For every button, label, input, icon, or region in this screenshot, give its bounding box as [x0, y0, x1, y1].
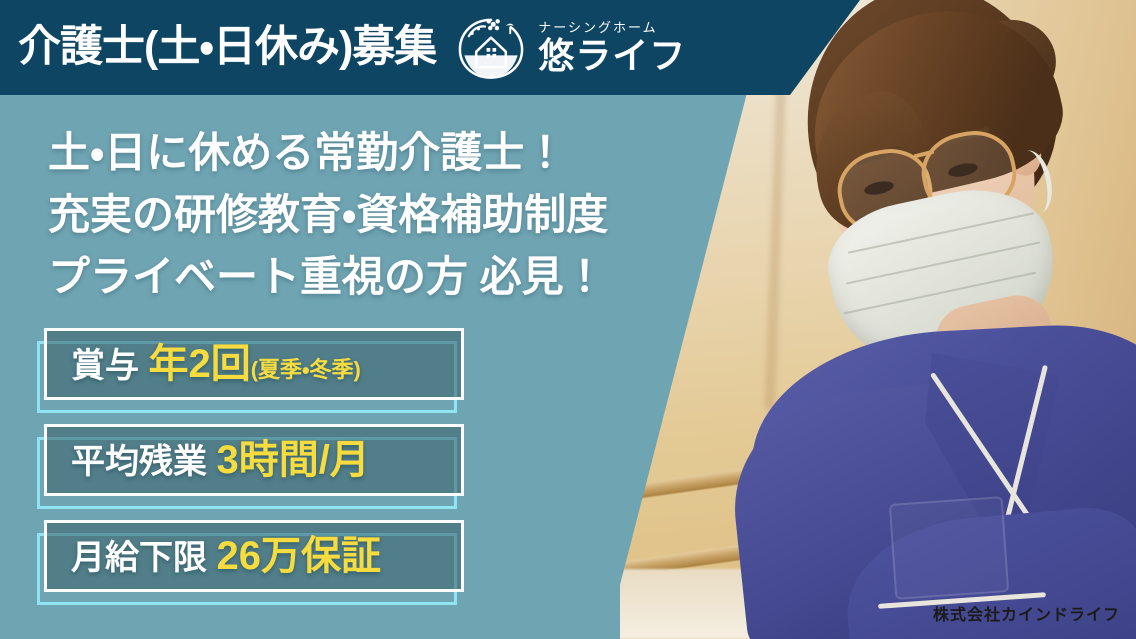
house-flower-logo-icon: [454, 11, 528, 85]
benefit-prefix: 平均残業: [71, 443, 216, 481]
headline-line-2: 充実の研修教育・資格補助制度: [48, 184, 608, 246]
logo-name: 悠ライフ: [538, 38, 686, 74]
benefit-text-overtime: 平均残業 3時間/月: [71, 440, 370, 480]
scrubs-pocket: [889, 496, 1009, 600]
caregiver-photo: [576, 0, 1136, 639]
headline-line-3: プライベート重視の方 必見！: [48, 246, 608, 308]
benefit-box-bonus: 賞与 年2回(夏季・冬季): [44, 328, 464, 400]
company-logo: ナーシングホーム 悠ライフ: [454, 11, 686, 85]
benefit-box-list: 賞与 年2回(夏季・冬季) 平均残業 3時間/月 月給下限 26万保証: [44, 328, 464, 616]
benefit-prefix: 月給下限: [71, 539, 216, 577]
header-content: 介護士(土・日休み)募集: [0, 0, 800, 95]
caregiver-figure: [696, 0, 1136, 639]
benefit-prefix: 賞与: [71, 347, 148, 385]
benefit-highlight: 26万保証: [216, 534, 381, 578]
headline-line-1: 土・日に休める常勤介護士！: [48, 122, 608, 184]
benefit-highlight: 年2回: [148, 342, 250, 386]
logo-text-block: ナーシングホーム 悠ライフ: [538, 21, 686, 74]
benefit-highlight: 3時間/月: [216, 438, 369, 482]
benefit-text-salary: 月給下限 26万保証: [71, 536, 381, 576]
company-credit: 株式会社カインドライフ: [933, 601, 1120, 625]
headline-block: 土・日に休める常勤介護士！ 充実の研修教育・資格補助制度 プライベート重視の方 …: [48, 122, 608, 308]
benefit-text-bonus: 賞与 年2回(夏季・冬季): [71, 344, 361, 384]
benefit-box-salary: 月給下限 26万保証: [44, 520, 464, 592]
page-title: 介護士(土・日休み)募集: [18, 26, 436, 69]
logo-subtitle: ナーシングホーム: [538, 21, 686, 34]
benefit-box-overtime: 平均残業 3時間/月: [44, 424, 464, 496]
benefit-suffix: (夏季・冬季): [251, 357, 361, 382]
recruitment-banner: 介護士(土・日休み)募集: [0, 0, 1136, 639]
header-bar: 介護士(土・日休み)募集: [0, 0, 860, 95]
